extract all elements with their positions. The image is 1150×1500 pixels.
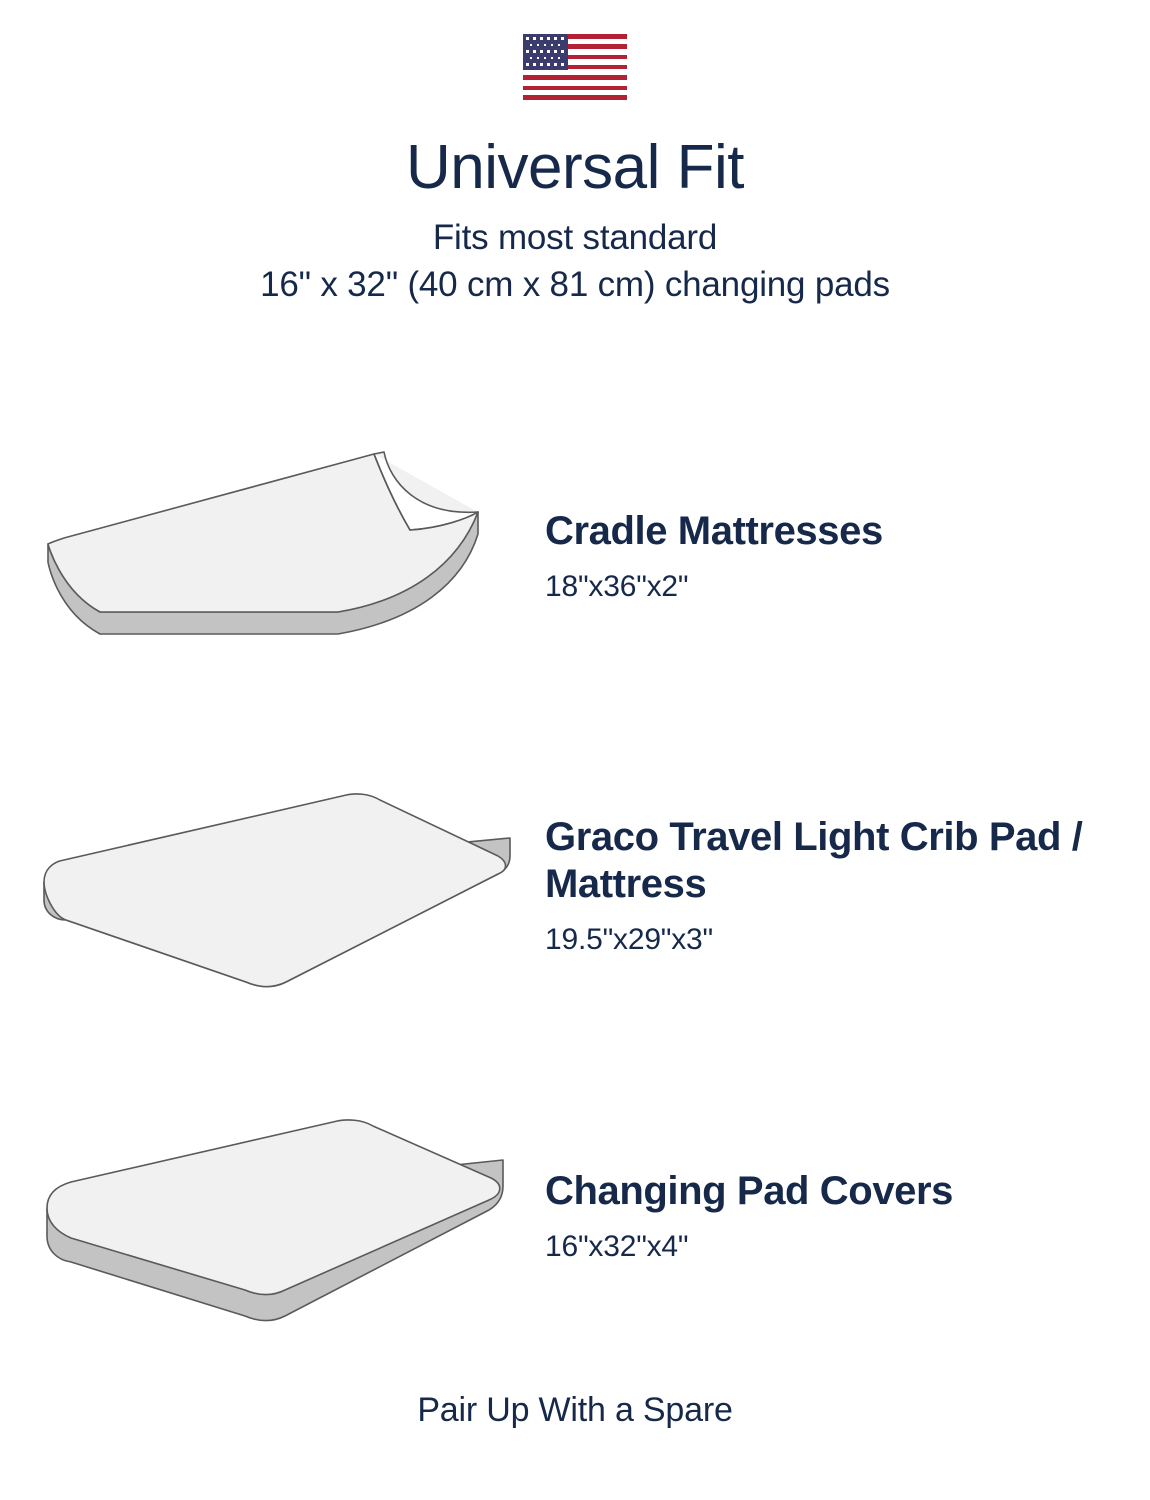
product-name: Graco Travel Light Crib Pad / Mattress bbox=[545, 814, 1110, 908]
page-subtitle: Fits most standard 16" x 32" (40 cm x 81… bbox=[0, 214, 1150, 308]
footer-tagline: Pair Up With a Spare bbox=[0, 1388, 1150, 1432]
list-item: Changing Pad Covers 16"x32"x4" bbox=[0, 1052, 1150, 1382]
product-name: Cradle Mattresses bbox=[545, 508, 1110, 555]
product-list: Cradle Mattresses 18"x36"x2" Graco Trave… bbox=[0, 392, 1150, 1382]
product-info: Graco Travel Light Crib Pad / Mattress 1… bbox=[545, 814, 1150, 960]
flag-canton-icon bbox=[523, 34, 568, 70]
product-info: Cradle Mattresses 18"x36"x2" bbox=[545, 508, 1150, 607]
product-size: 16"x32"x4" bbox=[545, 1227, 1110, 1267]
product-size: 19.5"x29"x3" bbox=[545, 920, 1110, 960]
contoured-changing-pad-icon bbox=[38, 442, 508, 672]
product-illustration bbox=[0, 442, 545, 672]
footer: Pair Up With a Spare bbox=[0, 1388, 1150, 1432]
flag-container bbox=[0, 34, 1150, 100]
page-title: Universal Fit bbox=[0, 132, 1150, 204]
thick-mattress-icon bbox=[33, 1110, 513, 1325]
product-size: 18"x36"x2" bbox=[545, 567, 1110, 607]
subtitle-line-1: Fits most standard bbox=[0, 214, 1150, 261]
list-item: Graco Travel Light Crib Pad / Mattress 1… bbox=[0, 722, 1150, 1052]
product-illustration bbox=[0, 1110, 545, 1325]
flat-mattress-icon bbox=[28, 782, 518, 992]
product-info: Changing Pad Covers 16"x32"x4" bbox=[545, 1168, 1150, 1267]
product-name: Changing Pad Covers bbox=[545, 1168, 1110, 1215]
header: Universal Fit Fits most standard 16" x 3… bbox=[0, 132, 1150, 308]
subtitle-line-2: 16" x 32" (40 cm x 81 cm) changing pads bbox=[0, 261, 1150, 308]
product-illustration bbox=[0, 782, 545, 992]
list-item: Cradle Mattresses 18"x36"x2" bbox=[0, 392, 1150, 722]
us-flag-icon bbox=[523, 34, 627, 100]
